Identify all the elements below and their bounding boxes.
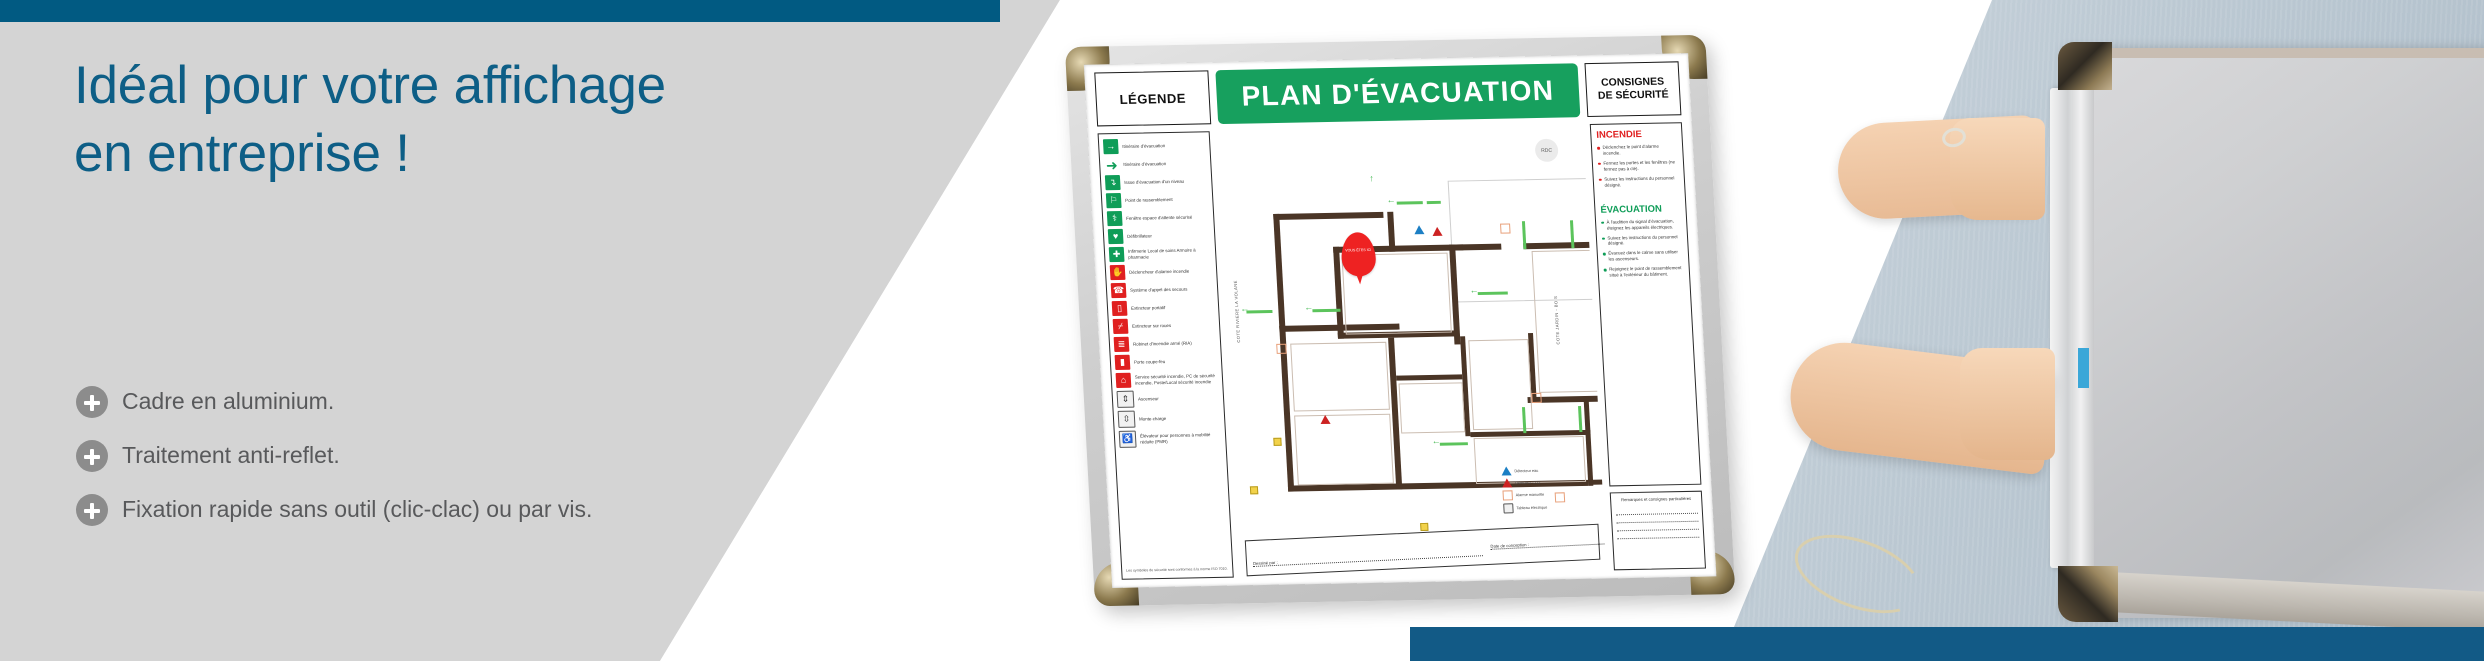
legend-item: ☎Système d'appel des secours: [1111, 281, 1214, 298]
instruction-item: Évacuez dans le calme sans utiliser les …: [1603, 250, 1684, 263]
legend-item: ⌿Extincteur sur roues: [1113, 317, 1216, 334]
frame-face: [2068, 48, 2484, 618]
feature-label: Fixation rapide sans outil (clic-clac) o…: [122, 497, 592, 522]
legend-title: LÉGENDE: [1094, 70, 1211, 126]
remarks-title: Remarques et consignes particulières: [1615, 496, 1697, 503]
legend-label: Point de rassemblement: [1125, 197, 1173, 203]
opened-snap-frame: [2050, 48, 2484, 618]
legend-label: Itinéraire d'évacuation: [1122, 143, 1165, 149]
instruction-text: Évacuez dans le calme sans utiliser les …: [1608, 250, 1683, 263]
legend-item: ⚐Point de rassemblement: [1106, 191, 1209, 208]
bullet-dot-icon: [1604, 269, 1607, 272]
consignes-line-1: CONSIGNES: [1597, 75, 1668, 89]
instruction-text: Fermez les portes et les fenêtres (ne fe…: [1603, 159, 1678, 172]
feature-label: Traitement anti-reflet.: [122, 443, 340, 468]
legend-item: ♿Élévateur pour personnes à mobilité réd…: [1119, 429, 1222, 448]
elevator-icon: ⇕: [1117, 391, 1135, 408]
headline-line-1: Idéal pour votre affichage: [74, 56, 666, 115]
legend-item: ▯Extincteur portatif: [1112, 299, 1215, 316]
disabled-lift-icon: ♿: [1119, 431, 1137, 448]
mini-legend-item: Détecteur eau: [1501, 465, 1594, 476]
instruction-item: Suivez les instructions du personnel dés…: [1599, 175, 1680, 188]
legend-note: Les symboles de sécurité sont conformes …: [1126, 567, 1228, 574]
fire-safety-service-icon: ⌂: [1116, 373, 1132, 388]
legend-label: Défibrillateur: [1127, 233, 1152, 239]
legend-label: Itinéraire d'évacuation: [1123, 161, 1166, 167]
plan-form-strip: Dessiné par : Date de conception : Site …: [1245, 524, 1601, 577]
plan-mini-legend: Détecteur eau Détecteur CO2 Alarme manue…: [1501, 465, 1596, 517]
floor-plan: RDC COTE RIVIERE LA VOLANE COTE JARDIN -…: [1217, 124, 1607, 577]
frame-corner-bottom-icon: [2058, 566, 2118, 622]
form-field: Date de conception :: [1490, 537, 1607, 550]
frame-corner-top-icon: [2058, 42, 2112, 90]
instruction-item: Suivez les instructions du personnel dés…: [1602, 234, 1683, 247]
evacuation-plan-frame: LÉGENDE PLAN D'ÉVACUATION CONSIGNES DE S…: [1056, 12, 1801, 661]
bullet-dot-icon: [1598, 163, 1601, 166]
bullet-dot-icon: [1599, 178, 1602, 181]
plus-circle-icon: [76, 440, 108, 472]
poster-title: PLAN D'ÉVACUATION: [1241, 75, 1555, 113]
defibrillator-icon: ♥: [1108, 229, 1124, 244]
mini-legend-item: Alarme manuelle: [1502, 489, 1595, 501]
instruction-text: Suivez les instructions du personnel dés…: [1607, 234, 1682, 247]
hand-lower-fingers: [1960, 348, 2055, 460]
bullet-dot-icon: [1603, 253, 1606, 256]
mini-legend-label: Alarme manuelle: [1516, 493, 1545, 498]
instructions-box: INCENDIE Déclenchez le point d'alarme in…: [1590, 122, 1702, 486]
promo-banner: Idéal pour votre affichage en entreprise…: [0, 0, 2484, 661]
poster-title-banner: PLAN D'ÉVACUATION: [1215, 63, 1580, 124]
snap-frame-photo: [1720, 0, 2484, 661]
frame-side-rail-inner: [2072, 84, 2094, 576]
instruction-item: Déclenchez le point d'alarme incendie.: [1597, 143, 1678, 156]
legend-item: →Itinéraire d'évacuation: [1103, 137, 1206, 154]
bullet-dot-icon: [1601, 221, 1604, 224]
legend-column: →Itinéraire d'évacuation ➜Itinéraire d'é…: [1098, 131, 1234, 579]
poster-sheet: LÉGENDE PLAN D'ÉVACUATION CONSIGNES DE S…: [1084, 53, 1717, 588]
instruction-text: Rejoignez le point de rassemblement situ…: [1609, 265, 1684, 278]
arrow-green-icon: ➜: [1104, 157, 1120, 172]
bullet-dot-icon: [1602, 237, 1605, 240]
blue-tab-marker: [2078, 348, 2089, 388]
first-aid-icon: ✚: [1109, 247, 1125, 262]
legend-label: Robinet d'incendie armé (RIA): [1133, 340, 1192, 347]
floor-label: RDC: [1535, 139, 1559, 162]
bullet-dot-icon: [1597, 147, 1600, 150]
legend-label: Porte coupe-feu: [1134, 359, 1166, 365]
mini-legend-label: Détecteur CO2: [1515, 480, 1541, 484]
safety-instructions-title: CONSIGNES DE SÉCURITÉ: [1584, 61, 1681, 117]
freight-lift-icon: ⇳: [1118, 411, 1136, 428]
form-field: Dessiné par :: [1253, 550, 1483, 567]
fire-hose-icon: ≣: [1114, 337, 1130, 352]
legend-label: Service sécurité incendie, PC de sécurit…: [1135, 373, 1219, 386]
side-label-left: COTE RIVIERE LA VOLANE: [1230, 223, 1241, 343]
evacuation-heading: ÉVACUATION: [1600, 203, 1681, 216]
legend-item: ✋Déclencheur d'alarme incendie: [1110, 263, 1213, 280]
instruction-item: À l'audition du signal d'évacuation, éte…: [1601, 218, 1682, 231]
legend-item: ≣Robinet d'incendie armé (RIA): [1114, 335, 1217, 352]
remarks-box: Remarques et consignes particulières: [1610, 491, 1706, 571]
list-item: Cadre en aluminium.: [76, 386, 676, 418]
mini-legend-label: Tableau électrique: [1516, 506, 1547, 511]
remarks-line: [1617, 530, 1699, 540]
legend-label: Fenêtre espace d'attente sécurisé: [1126, 214, 1192, 221]
legend-item: ⚕Fenêtre espace d'attente sécurisé: [1107, 209, 1210, 226]
legend-label: Extincteur portatif: [1131, 305, 1165, 311]
plus-circle-icon: [76, 494, 108, 526]
legend-label: Ascenseur: [1138, 396, 1159, 402]
poster-header: LÉGENDE PLAN D'ÉVACUATION CONSIGNES DE S…: [1094, 61, 1681, 126]
legend-label: Issue d'évacuation d'un niveau: [1124, 179, 1184, 186]
legend-item: ✚Infirmerie Local de soins Armoire à pha…: [1109, 245, 1212, 262]
instruction-item: Rejoignez le point de rassemblement situ…: [1604, 265, 1685, 278]
legend-label: Infirmerie Local de soins Armoire à phar…: [1128, 247, 1212, 260]
consignes-line-2: DE SÉCURITÉ: [1598, 88, 1669, 102]
legend-item: ⇳Monte-charge: [1118, 409, 1221, 428]
wheeled-extinguisher-icon: ⌿: [1113, 319, 1129, 334]
aluminium-frame: LÉGENDE PLAN D'ÉVACUATION CONSIGNES DE S…: [1065, 35, 1736, 606]
legend-label: Extincteur sur roues: [1132, 323, 1171, 329]
legend-item: ⌂Service sécurité incendie, PC de sécuri…: [1116, 371, 1219, 388]
legend-item: ↴Issue d'évacuation d'un niveau: [1105, 173, 1208, 190]
legend-item: ♥Défibrillateur: [1108, 227, 1211, 244]
legend-item: ▮Porte coupe-feu: [1115, 353, 1218, 370]
you-are-here-label: VOUS ÊTES ICI: [1343, 248, 1373, 253]
fire-door-icon: ▮: [1115, 355, 1131, 370]
list-item: Fixation rapide sans outil (clic-clac) o…: [76, 494, 676, 526]
legend-label: Déclencheur d'alarme incendie: [1129, 268, 1189, 275]
fire-heading: INCENDIE: [1596, 128, 1677, 141]
headline-line-2: en entreprise !: [74, 120, 694, 188]
instruction-text: Suivez les instructions du personnel dés…: [1604, 175, 1679, 188]
you-are-here-marker: VOUS ÊTES ICI: [1340, 232, 1376, 277]
instruction-text: Déclenchez le point d'alarme incendie.: [1602, 143, 1677, 156]
plus-circle-icon: [76, 386, 108, 418]
safety-instructions-column: INCENDIE Déclenchez le point d'alarme in…: [1590, 122, 1706, 570]
fire-alarm-trigger-icon: ✋: [1110, 265, 1126, 280]
legend-item: ➜Itinéraire d'évacuation: [1104, 155, 1207, 172]
fire-extinguisher-icon: ▯: [1112, 301, 1128, 316]
mini-legend-item: Tableau électrique: [1503, 502, 1596, 514]
exit-sign-green-icon: →: [1103, 139, 1119, 154]
mini-legend-label: Détecteur eau: [1514, 468, 1538, 472]
feature-label: Cadre en aluminium.: [122, 389, 334, 414]
refuge-space-icon: ⚕: [1107, 211, 1123, 226]
legend-label: Élévateur pour personnes à mobilité rédu…: [1140, 432, 1222, 445]
emergency-phone-icon: ☎: [1111, 283, 1127, 298]
assembly-point-icon: ⚐: [1106, 193, 1122, 208]
legend-item: ⇕Ascenseur: [1117, 389, 1220, 408]
feature-list: Cadre en aluminium. Traitement anti-refl…: [76, 386, 676, 548]
instruction-text: À l'audition du signal d'évacuation, éte…: [1606, 218, 1681, 231]
mini-legend-item: Détecteur CO2: [1502, 477, 1595, 488]
legend-label: Monte-charge: [1139, 416, 1166, 422]
stairs-exit-icon: ↴: [1105, 175, 1121, 190]
list-item: Traitement anti-reflet.: [76, 440, 676, 472]
page-title: Idéal pour votre affichage en entreprise…: [74, 52, 694, 188]
legend-label: Système d'appel des secours: [1130, 286, 1188, 293]
instruction-item: Fermez les portes et les fenêtres (ne fe…: [1598, 159, 1679, 172]
top-blue-bar: [0, 0, 1000, 22]
